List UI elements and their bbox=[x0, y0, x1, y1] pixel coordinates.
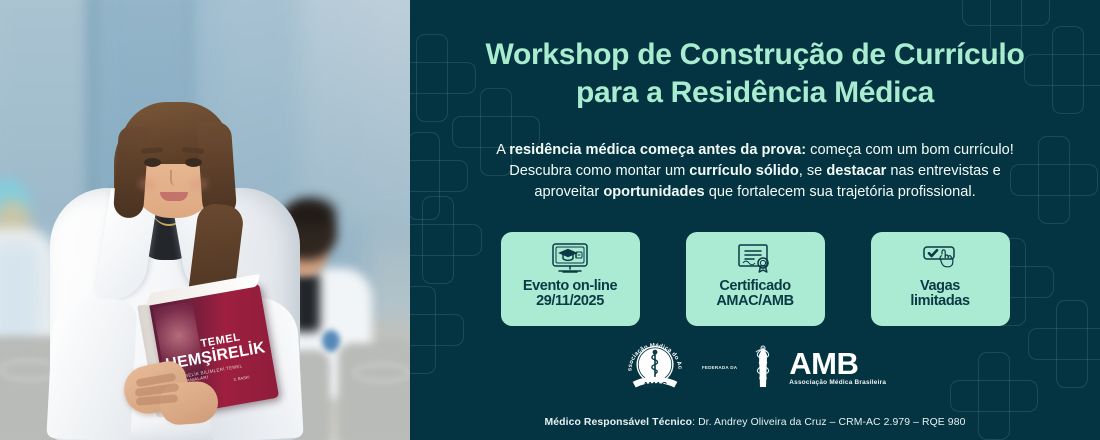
headline-line-2: para a Residência Médica bbox=[436, 74, 1074, 112]
amb-full-name: Associação Médica Brasileira bbox=[789, 380, 886, 386]
page-title: Workshop de Construção de Currículo para… bbox=[410, 36, 1100, 112]
book-edition: 3. BASKI bbox=[233, 374, 250, 382]
technical-responsible-footer: Médico Responsável Técnico: Dr. Andrey O… bbox=[410, 417, 1100, 428]
subtitle-emphasis: destacar bbox=[826, 163, 886, 179]
student-hair-side-left bbox=[113, 125, 149, 219]
monitor-graduation-cap-icon bbox=[550, 241, 590, 275]
footer-value: : Dr. Andrey Oliveira da Cruz – CRM-AC 2… bbox=[692, 417, 965, 428]
subtitle-text: que fortalecem sua trajetória profission… bbox=[705, 184, 976, 200]
subtitle-text: A bbox=[496, 142, 509, 158]
content-panel: Workshop de Construção de Currículo para… bbox=[410, 0, 1100, 440]
subtitle-paragraph: A residência médica começa antes da prov… bbox=[410, 140, 1100, 203]
foreground-student: TEMEL HEMŞİRELİK HEMŞİRELİK BİLİMLERİ TE… bbox=[40, 92, 320, 440]
feature-card-list: Evento on-line 29/11/2025 Cer bbox=[410, 232, 1100, 326]
partner-logos: Associação Médica do Acre AMAC FEDERADA … bbox=[410, 336, 1100, 398]
student-eye-left bbox=[144, 158, 161, 167]
student-cheek-right bbox=[190, 178, 208, 190]
amb-logo: FEDERADA DA AMB Associação Médic bbox=[702, 345, 886, 389]
background-student-badge bbox=[322, 330, 340, 352]
amb-federated-label: FEDERADA DA bbox=[702, 365, 737, 370]
card-label: Certificado AMAC/AMB bbox=[716, 279, 793, 309]
card-vagas-limitadas[interactable]: Vagas limitadas bbox=[871, 232, 1010, 326]
student-nose bbox=[170, 170, 178, 186]
card-label: Evento on-line 29/11/2025 bbox=[523, 279, 617, 309]
student-cheek-left bbox=[138, 178, 156, 190]
subtitle-emphasis: oportunidades bbox=[603, 184, 704, 200]
subtitle-text: nas entrevistas e bbox=[886, 163, 1000, 179]
amb-acronym: AMB bbox=[789, 348, 886, 379]
subtitle-text: aproveitar bbox=[534, 184, 603, 200]
amac-banner-text: AMAC bbox=[643, 381, 667, 390]
lab-coat-sleeve-left bbox=[46, 296, 137, 440]
subtitle-emphasis: residência médica começa antes da prova: bbox=[509, 142, 806, 158]
card-label-line-1: Vagas bbox=[910, 279, 969, 294]
card-certificado[interactable]: Certificado AMAC/AMB bbox=[686, 232, 825, 326]
certificate-seal-icon bbox=[735, 241, 775, 275]
subtitle-text: , se bbox=[799, 163, 827, 179]
card-label-line-1: Certificado bbox=[716, 279, 793, 294]
footer-label: Médico Responsável Técnico bbox=[545, 417, 693, 428]
student-eye-right bbox=[185, 158, 202, 167]
card-label-line-2: 29/11/2025 bbox=[523, 294, 617, 309]
subtitle-text: Descubra como montar um bbox=[509, 163, 689, 179]
classroom-chair bbox=[338, 343, 410, 440]
card-label-line-1: Evento on-line bbox=[523, 279, 617, 294]
checkbox-hand-click-icon bbox=[920, 241, 960, 275]
subtitle-text: começa com um bom currículo! bbox=[806, 142, 1014, 158]
caduceus-icon bbox=[742, 345, 784, 389]
amac-logo: Associação Médica do Acre AMAC bbox=[624, 336, 686, 398]
amb-wordmark: AMB Associação Médica Brasileira bbox=[789, 348, 886, 386]
card-label-line-2: AMAC/AMB bbox=[716, 294, 793, 309]
hero-photo: TEMEL HEMŞİRELİK HEMŞİRELİK BİLİMLERİ TE… bbox=[0, 0, 410, 440]
card-evento-online[interactable]: Evento on-line 29/11/2025 bbox=[501, 232, 640, 326]
card-label: Vagas limitadas bbox=[910, 279, 969, 309]
event-banner: TEMEL HEMŞİRELİK HEMŞİRELİK BİLİMLERİ TE… bbox=[0, 0, 1100, 440]
headline-line-1: Workshop de Construção de Currículo bbox=[436, 36, 1074, 74]
card-label-line-2: limitadas bbox=[910, 294, 969, 309]
subtitle-emphasis: currículo sólido bbox=[689, 163, 798, 179]
chair-backrest-hole bbox=[352, 362, 410, 384]
